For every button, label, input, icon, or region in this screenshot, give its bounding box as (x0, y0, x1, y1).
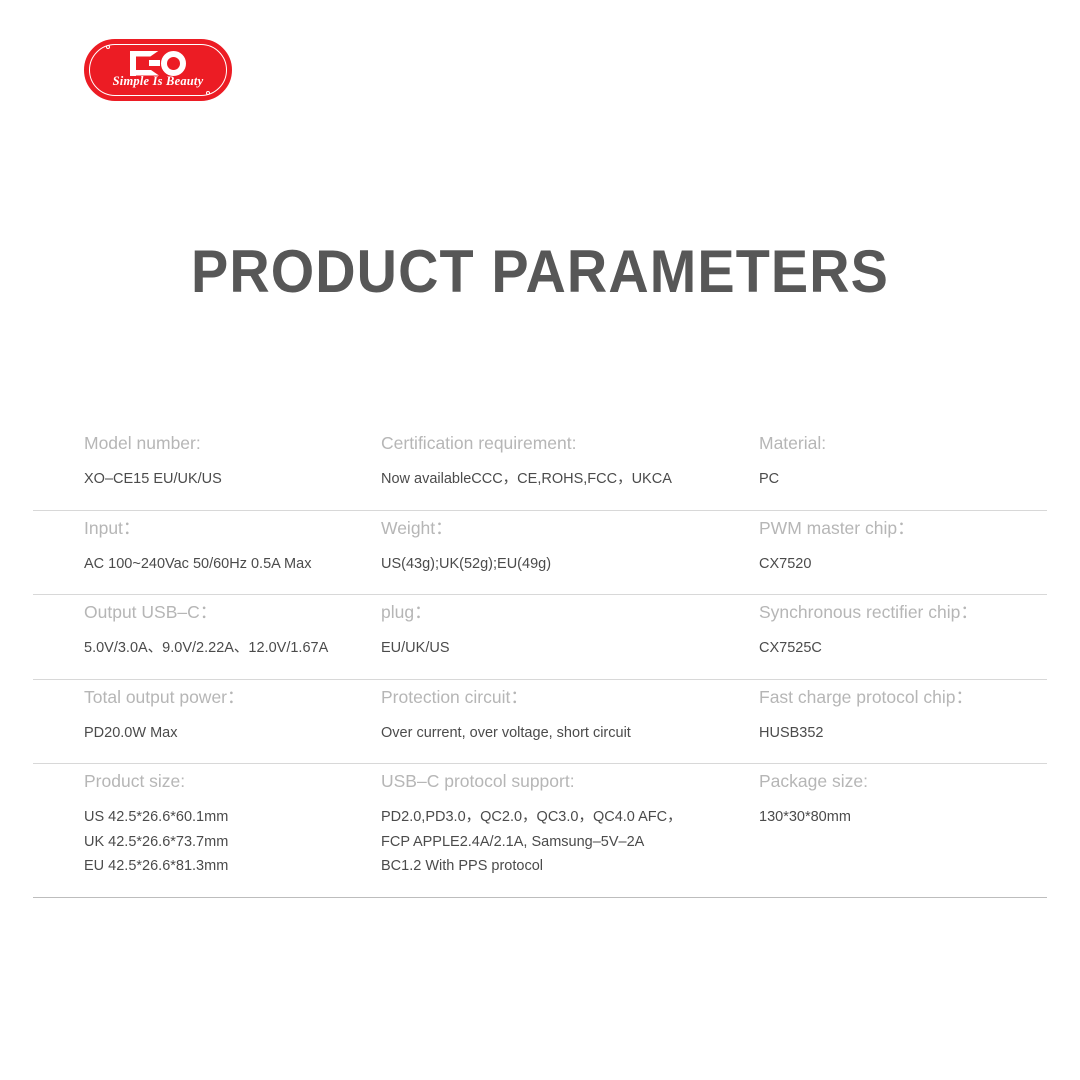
page-title: PRODUCT PARAMETERS (38, 237, 1042, 306)
spec-cell-usb-c-protocol-support: USB–C protocol support: PD2.0,PD3.0，QC2.… (381, 770, 759, 879)
logo-x-glyph-icon (130, 51, 160, 76)
spec-cell-synchronous-rectifier-chip: Synchronous rectifier chip： CX7525C (759, 601, 1047, 661)
spec-value: HUSB352 (759, 721, 1039, 746)
logo-xo-mark-icon (84, 50, 232, 76)
spec-label: Weight： (381, 517, 751, 539)
spec-value: US(43g);UK(52g);EU(49g) (381, 552, 751, 577)
spec-label: Fast charge protocol chip： (759, 686, 1039, 708)
spec-cell-output-usb-c: Output USB–C： 5.0V/3.0A、9.0V/2.22A、12.0V… (33, 601, 381, 661)
spec-value: AC 100~240Vac 50/60Hz 0.5A Max (84, 552, 373, 577)
spec-cell-pwm-master-chip: PWM master chip： CX7520 (759, 517, 1047, 577)
spec-label: Protection circuit： (381, 686, 751, 708)
table-row: Input： AC 100~240Vac 50/60Hz 0.5A Max We… (33, 511, 1047, 596)
table-row: Model number: XO–CE15 EU/UK/US Certifica… (33, 432, 1047, 511)
logo-o-glyph-icon (161, 51, 186, 76)
brand-logo: Simple Is Beauty (84, 39, 232, 101)
spec-label: PWM master chip： (759, 517, 1039, 539)
spec-value: CX7520 (759, 552, 1039, 577)
spec-value: Over current, over voltage, short circui… (381, 721, 751, 746)
spec-value: PD2.0,PD3.0，QC2.0，QC3.0，QC4.0 AFC， FCP A… (381, 805, 751, 879)
spec-cell-protection-circuit: Protection circuit： Over current, over v… (381, 686, 759, 746)
spec-label: Package size: (759, 770, 1039, 792)
spec-label: Total output power： (84, 686, 373, 708)
spec-value: EU/UK/US (381, 636, 751, 661)
spec-cell-weight: Weight： US(43g);UK(52g);EU(49g) (381, 517, 759, 577)
spec-value: 130*30*80mm (759, 805, 1039, 830)
logo-dot-bottom-right-icon (206, 91, 210, 95)
spec-label: Model number: (84, 432, 373, 454)
spec-cell-certification-requirement: Certification requirement: Now available… (381, 432, 759, 492)
spec-label: Input： (84, 517, 373, 539)
spec-label: Certification requirement: (381, 432, 751, 454)
spec-value: XO–CE15 EU/UK/US (84, 467, 373, 492)
spec-value: 5.0V/3.0A、9.0V/2.22A、12.0V/1.67A (84, 636, 373, 661)
spec-value: CX7525C (759, 636, 1039, 661)
spec-value: PC (759, 467, 1039, 492)
logo-dot-top-left-icon (106, 45, 110, 49)
spec-label: USB–C protocol support: (381, 770, 751, 792)
product-parameters-table: Model number: XO–CE15 EU/UK/US Certifica… (33, 432, 1047, 898)
table-row: Total output power： PD20.0W Max Protecti… (33, 680, 1047, 765)
spec-label: Synchronous rectifier chip： (759, 601, 1039, 623)
spec-label: Material: (759, 432, 1039, 454)
spec-cell-plug: plug： EU/UK/US (381, 601, 759, 661)
spec-label: plug： (381, 601, 751, 623)
spec-label: Product size: (84, 770, 373, 792)
spec-value: US 42.5*26.6*60.1mm UK 42.5*26.6*73.7mm … (84, 805, 373, 879)
table-row: Product size: US 42.5*26.6*60.1mm UK 42.… (33, 764, 1047, 898)
spec-value: PD20.0W Max (84, 721, 373, 746)
spec-cell-material: Material: PC (759, 432, 1047, 492)
logo-tagline: Simple Is Beauty (84, 74, 232, 89)
spec-label: Output USB–C： (84, 601, 373, 623)
spec-value: Now availableCCC，CE,ROHS,FCC，UKCA (381, 467, 751, 492)
table-row: Output USB–C： 5.0V/3.0A、9.0V/2.22A、12.0V… (33, 595, 1047, 680)
spec-cell-model-number: Model number: XO–CE15 EU/UK/US (33, 432, 381, 492)
spec-cell-fast-charge-protocol-chip: Fast charge protocol chip： HUSB352 (759, 686, 1047, 746)
spec-cell-product-size: Product size: US 42.5*26.6*60.1mm UK 42.… (33, 770, 381, 879)
spec-cell-package-size: Package size: 130*30*80mm (759, 770, 1047, 879)
spec-cell-input: Input： AC 100~240Vac 50/60Hz 0.5A Max (33, 517, 381, 577)
spec-cell-total-output-power: Total output power： PD20.0W Max (33, 686, 381, 746)
